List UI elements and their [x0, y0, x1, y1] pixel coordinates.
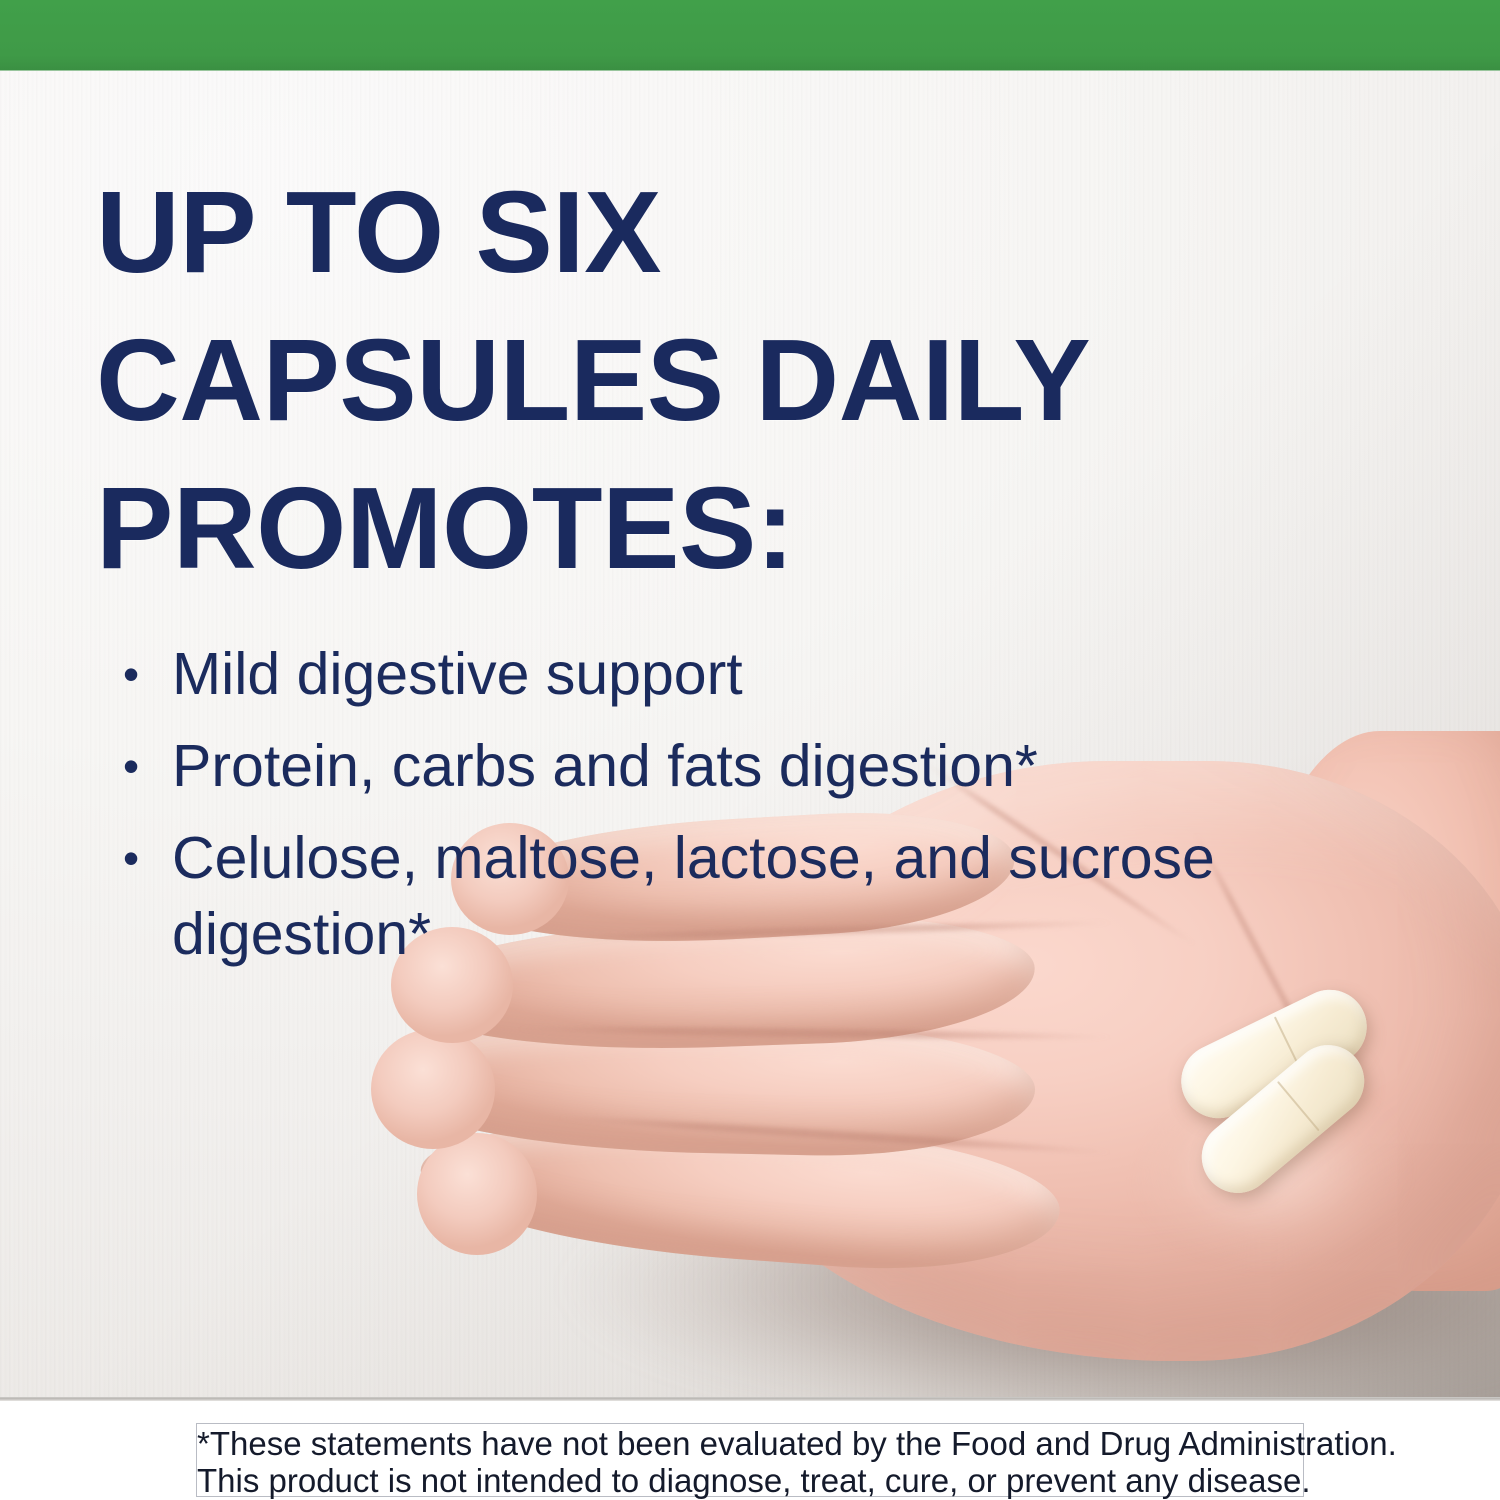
headline: UP TO SIX CAPSULES DAILY PROMOTES: [96, 158, 1216, 602]
fda-disclaimer-box: *These statements have not been evaluate… [196, 1423, 1304, 1497]
fingertip-pinky [417, 1133, 537, 1255]
list-item: • Protein, carbs and fats digestion* [118, 728, 1278, 804]
benefits-list: • Mild digestive support • Protein, carb… [118, 636, 1278, 988]
bullet-dot-icon: • [118, 728, 172, 804]
benefit-text: Protein, carbs and fats digestion* [172, 728, 1278, 804]
capsule-seam [1277, 1081, 1319, 1131]
fda-disclaimer-line-2: This product is not intended to diagnose… [197, 1462, 1303, 1499]
footer-divider [0, 1397, 1500, 1401]
bullet-dot-icon: • [118, 820, 172, 896]
list-item: • Mild digestive support [118, 636, 1278, 712]
benefit-text: Celulose, maltose, lactose, and sucrose … [172, 820, 1278, 972]
product-benefit-infographic: UP TO SIX CAPSULES DAILY PROMOTES: • Mil… [0, 0, 1500, 1500]
fda-disclaimer-line-1: *These statements have not been evaluate… [197, 1425, 1303, 1462]
fingertip-ring [371, 1029, 495, 1149]
benefit-text: Mild digestive support [172, 636, 1278, 712]
top-green-band [0, 0, 1500, 71]
list-item: • Celulose, maltose, lactose, and sucros… [118, 820, 1278, 972]
bullet-dot-icon: • [118, 636, 172, 712]
